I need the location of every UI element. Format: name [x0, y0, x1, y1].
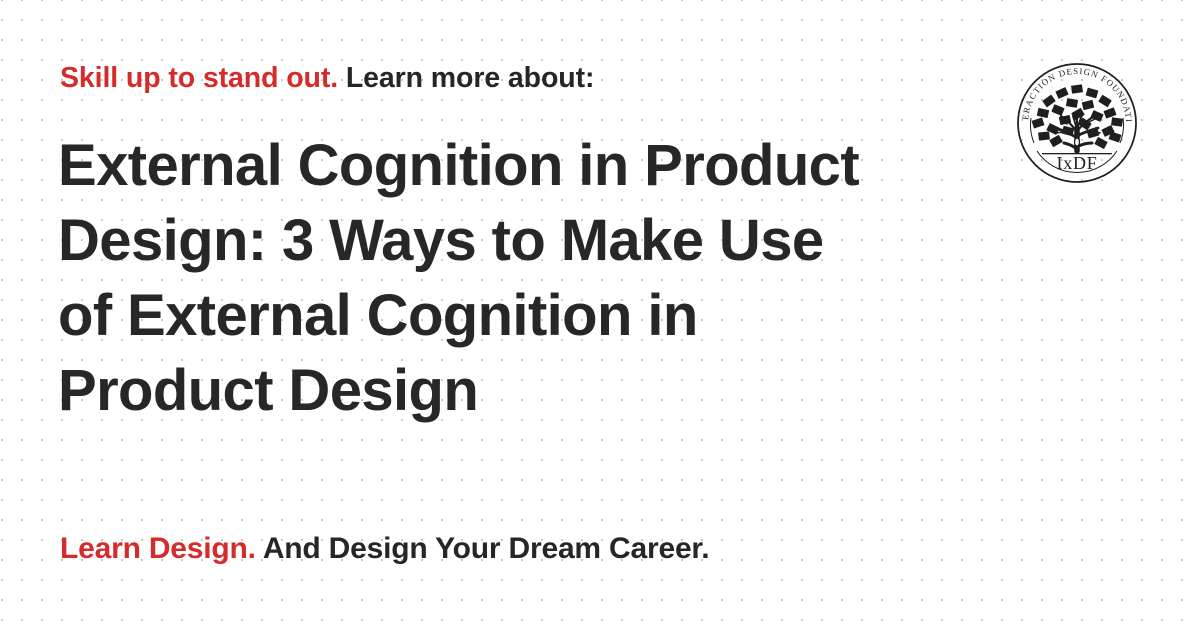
headline-line-1: External Cognition in Product	[58, 128, 958, 203]
headline-line-2: Design: 3 Ways to Make Use	[58, 203, 958, 278]
kicker-line: Skill up to stand out. Learn more about:	[60, 58, 1000, 98]
ixdf-seal-logo: INTERACTION DESIGN FOUNDATION	[1012, 58, 1142, 188]
og-image-card: Skill up to stand out. Learn more about:…	[0, 0, 1200, 630]
kicker-rest-text: Learn more about:	[338, 62, 594, 94]
tagline-rest-text: And Design Your Dream Career.	[256, 532, 710, 565]
tagline-accent-text: Learn Design.	[60, 532, 256, 565]
headline-line-3: of External Cognition in	[58, 278, 958, 353]
logo-wordmark: IxDF	[1056, 153, 1097, 173]
kicker-accent-text: Skill up to stand out.	[60, 62, 338, 94]
page-title: External Cognition in Product Design: 3 …	[58, 128, 958, 428]
tagline-line: Learn Design. And Design Your Dream Care…	[60, 528, 1060, 570]
headline-line-4: Product Design	[58, 353, 958, 428]
